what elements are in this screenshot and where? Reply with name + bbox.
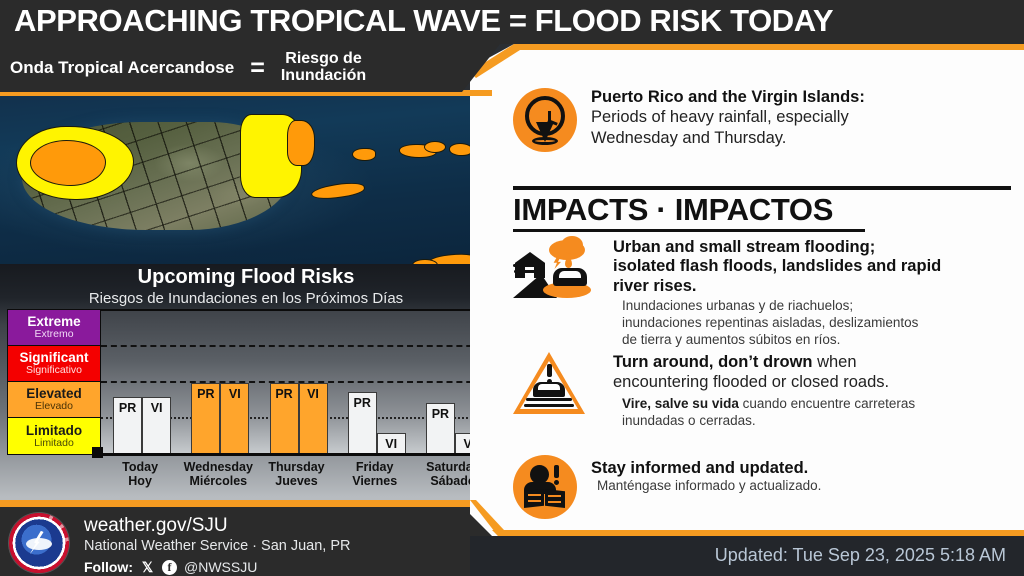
nws-logo-inner [18, 522, 60, 564]
legend-item-elevated: Elevated Elevado [8, 382, 100, 418]
flooded-road-warning-icon [513, 352, 585, 414]
bar-label: VI [229, 387, 241, 401]
chart-bar-today-pr: PR [113, 397, 142, 455]
legend-label-en: Limitado [26, 424, 82, 438]
map-zone-elevated-west [30, 140, 106, 186]
upcoming-flood-risks-chart: Upcoming Flood Risks Riesgos de Inundaci… [0, 264, 492, 502]
impact3-es-line1: Manténgase informado y actualizado. [597, 478, 821, 495]
day-label-en: Thursday [257, 460, 335, 474]
bar-label: PR [197, 387, 214, 401]
chart-plot-area: Extreme Extremo Significant Significativ… [0, 309, 492, 455]
day-label-today: TodayHoy [101, 460, 179, 488]
chart-bar-saturday-pr: PR [426, 403, 455, 455]
water-wave-1 [513, 264, 539, 267]
flood-house-car-icon-wrap [513, 238, 599, 304]
day-label-es: Jueves [257, 474, 335, 488]
panel-bottom-border [470, 530, 1024, 536]
impact3-en-line1: Stay informed and updated. [591, 459, 821, 478]
legend-item-significant: Significant Significativo [8, 346, 100, 382]
impact2-en-line1: Turn around, don’t drown when [613, 352, 915, 372]
risk-level-legend: Extreme Extremo Significant Significativ… [7, 309, 101, 455]
page-title: APPROACHING TROPICAL WAVE = FLOOD RISK T… [14, 3, 833, 39]
exclamation-bar [554, 465, 559, 478]
subheader-right-text: Riesgo de Inundación [281, 51, 366, 85]
impact2-en-line2: encountering flooded or closed roads. [613, 372, 915, 392]
storm-cloud-shape-2 [561, 236, 583, 254]
impact1-en-line2: isolated flash floods, landslides and ra… [613, 257, 941, 276]
chart-subtitle: Riesgos de Inundaciones en los Próximos … [0, 290, 492, 307]
book-text-line [528, 494, 541, 496]
stay-informed-icon-wrap [513, 455, 577, 519]
impacts-divider-top [513, 186, 1011, 190]
chart-bar-thursday-vi: VI [299, 383, 328, 455]
footer: weather.gov/SJU National Weather Service… [0, 507, 492, 576]
chart-bar-wednesday-pr: PR [191, 383, 220, 455]
chart-day-labels: TodayHoyWednesdayMiércolesThursdayJueves… [0, 460, 492, 502]
spanish-subheader: Onda Tropical Acercandose = Riesgo de In… [0, 44, 500, 92]
legend-label-es: Extremo [34, 329, 73, 340]
book-text-line [528, 500, 541, 502]
chart-bar-wednesday-vi: VI [220, 383, 249, 455]
legend-label-en: Significant [19, 351, 88, 365]
impact-item-flooding: Urban and small stream flooding; isolate… [513, 238, 1011, 349]
legend-label-en: Elevated [26, 387, 82, 401]
clock-pin-icon-wrap [513, 88, 577, 152]
clock-pin-icon [513, 88, 577, 152]
office-name: National Weather Service · San Juan, PR [84, 538, 351, 554]
summary-heading: Puerto Rico and the Virgin Islands: [591, 88, 865, 107]
day-label-en: Wednesday [179, 460, 257, 474]
headline-bar: APPROACHING TROPICAL WAVE = FLOOD RISK T… [0, 0, 1024, 44]
raindrop-shape [565, 258, 572, 268]
impact-item-turn-around: Turn around, don’t drown when encounteri… [513, 352, 1011, 429]
chart-orange-rule [0, 500, 492, 507]
day-label-en: Friday [336, 460, 414, 474]
car-window [538, 384, 560, 390]
social-handle[interactable]: @NWSSJU [184, 559, 257, 575]
car-window [559, 271, 581, 278]
day-label-thursday: ThursdayJueves [257, 460, 335, 488]
impacts-heading: IMPACTS · IMPACTOS [513, 192, 833, 228]
flooded-road-warning-icon-wrap [513, 352, 599, 418]
impact-turn-around-text: Turn around, don’t drown when encounteri… [613, 352, 915, 429]
summary-block: Puerto Rico and the Virgin Islands: Peri… [513, 88, 1011, 152]
chart-title: Upcoming Flood Risks [0, 266, 492, 289]
lightning-shape [553, 256, 561, 269]
legend-item-extreme: Extreme Extremo [8, 310, 100, 346]
panel-top-border [470, 44, 1024, 50]
island-culebra [352, 148, 376, 161]
bar-label: VI [385, 437, 397, 451]
legend-label-en: Extreme [27, 315, 80, 329]
follow-label: Follow: [84, 559, 133, 575]
bar-label: VI [151, 401, 163, 415]
gridline-significant [101, 345, 492, 347]
exclamation-dot [554, 480, 559, 485]
day-label-friday: FridayViernes [336, 460, 414, 488]
book-text-line [548, 495, 561, 497]
impact-flooding-text: Urban and small stream flooding; isolate… [613, 238, 941, 349]
stay-informed-reading-icon [513, 455, 577, 519]
cloud-icon [26, 538, 52, 550]
book-left-page [524, 489, 544, 508]
equals-sign: = [250, 56, 265, 81]
subheader-left-text: Onda Tropical Acercandose [10, 58, 234, 78]
chart-bar-today-vi: VI [142, 397, 171, 455]
impact-item-stay-informed: Stay informed and updated. Manténgase in… [513, 455, 1011, 519]
legend-label-es: Limitado [34, 438, 74, 449]
bar-label: VI [307, 387, 319, 401]
chart-bar-friday-vi: VI [377, 433, 406, 455]
impact2-en-bold: Turn around, don’t drown [613, 353, 813, 371]
summary-line1: Periods of heavy rainfall, especially [591, 107, 865, 127]
bar-label: PR [275, 387, 292, 401]
summary-text: Puerto Rico and the Virgin Islands: Peri… [591, 88, 865, 148]
impact2-es-line1: Vire, salve su vida cuando encuentre car… [622, 395, 915, 413]
day-label-en: Today [101, 460, 179, 474]
x-twitter-icon[interactable]: 𝕏 [140, 560, 155, 575]
facebook-icon[interactable]: f [162, 560, 177, 575]
impacts-heading-underline [513, 229, 865, 232]
impact2-en-rest: when [813, 353, 857, 371]
book-text-line [548, 501, 561, 503]
chart-bar-friday-pr: PR [348, 392, 377, 455]
day-label-wednesday: WednesdayMiércoles [179, 460, 257, 488]
impact1-en-line1: Urban and small stream flooding; [613, 238, 941, 257]
island-st-john [449, 143, 473, 156]
water-wave-2 [514, 270, 538, 273]
chart-bar-thursday-pr: PR [270, 383, 299, 455]
impact1-en-line3: river rises. [613, 277, 941, 296]
weather-graphic: APPROACHING TROPICAL WAVE = FLOOD RISK T… [0, 0, 1024, 576]
island-water-island [424, 141, 446, 153]
pin-shape [525, 96, 565, 144]
legend-item-limited: Limitado Limitado [8, 418, 100, 454]
website-link[interactable]: weather.gov/SJU [84, 515, 228, 537]
water-wave-2 [524, 404, 574, 407]
impact-stay-informed-text: Stay informed and updated. Manténgase in… [591, 459, 821, 495]
impact2-es-rest: cuando encuentre carreteras [739, 396, 915, 411]
summary-line2: Wednesday and Thursday. [591, 128, 865, 148]
day-label-es: Hoy [101, 474, 179, 488]
book-right-page [545, 489, 565, 508]
exclamation-bar [547, 364, 552, 377]
water-wave-1 [526, 398, 572, 401]
legend-label-es: Significativo [26, 365, 82, 376]
bar-label: PR [119, 401, 136, 415]
impact1-es-line2: inundaciones repentinas aisladas, desliz… [622, 315, 941, 332]
chart-top-axis [101, 309, 492, 311]
impact2-es-bold: Vire, salve su vida [622, 396, 739, 411]
pin-base-ellipse [532, 137, 558, 145]
nws-logo [9, 513, 69, 573]
reading-person-shape [524, 465, 566, 509]
day-label-es: Miércoles [179, 474, 257, 488]
chart-origin-marker [92, 447, 103, 458]
updated-timestamp: Updated: Tue Sep 23, 2025 5:18 AM [715, 545, 1006, 566]
social-row: Follow: 𝕏 f @NWSSJU [84, 559, 257, 575]
legend-label-es: Elevado [35, 401, 73, 412]
chart-baseline-axis [96, 453, 492, 456]
day-label-es: Viernes [336, 474, 414, 488]
bar-label: PR [432, 407, 449, 421]
impact1-es-line3: de tierra y aumentos súbitos en ríos. [622, 332, 941, 349]
impact1-es-line1: Inundaciones urbanas y de riachuelos; [622, 298, 941, 315]
flood-house-car-icon [513, 238, 591, 300]
bar-label: PR [354, 396, 371, 410]
map-zone-elevated-east [287, 120, 315, 166]
impact2-es-line2: inundadas o cerradas. [622, 413, 915, 430]
